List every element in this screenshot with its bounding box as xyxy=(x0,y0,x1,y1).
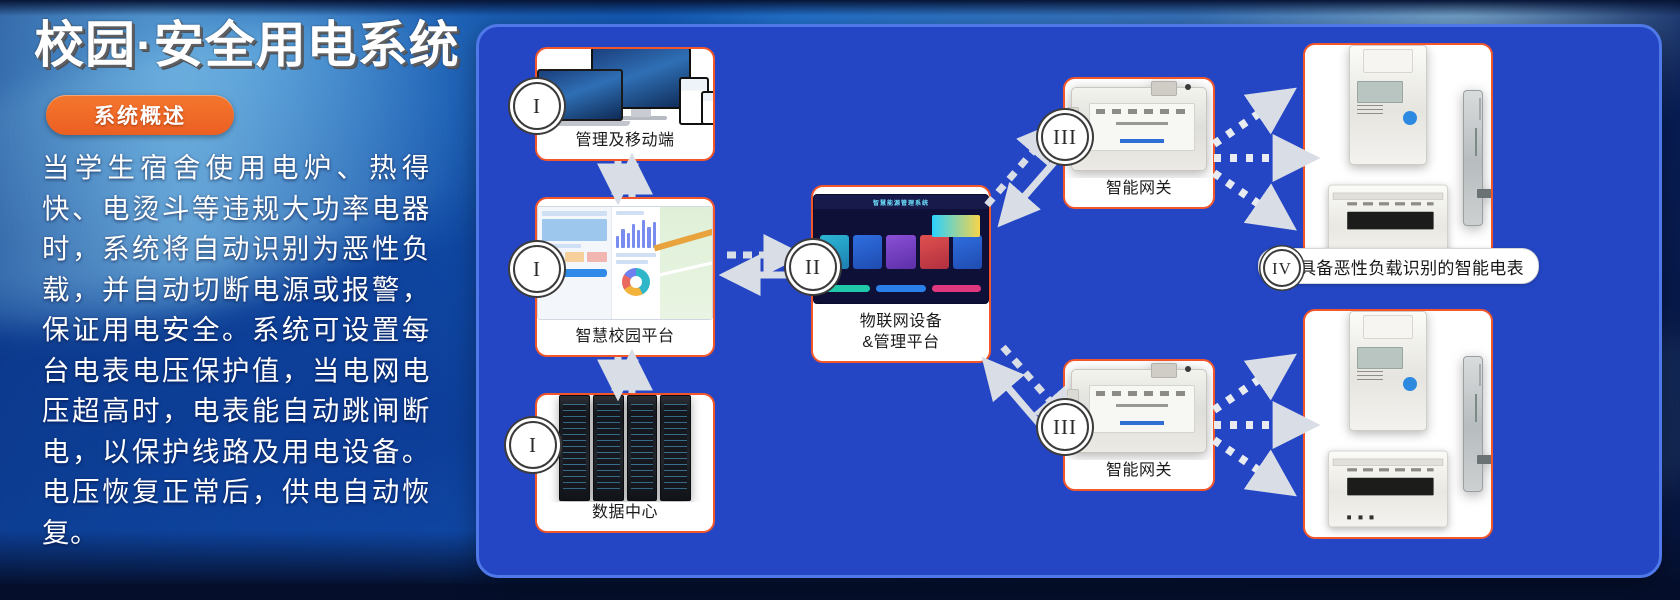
node-smart-campus-label: 智慧校园平台 xyxy=(537,326,713,355)
server-rack-icon xyxy=(537,395,713,502)
meter-group-label-bar[interactable]: IV 具备恶性负载识别的智能电表 xyxy=(1258,248,1539,284)
node-iot-platform[interactable]: 智慧能源管理系统 物 xyxy=(811,185,991,363)
page-title: 校园·安全用电系统 xyxy=(34,14,464,76)
badge-iot-platform: II xyxy=(789,243,837,291)
meter-stack-bottom-left xyxy=(1313,311,1463,537)
node-data-center-label: 数据中心 xyxy=(537,502,713,531)
node-admin-mobile[interactable]: 管理及移动端 xyxy=(535,47,715,161)
node-iot-platform-label: 物联网设备 &管理平台 xyxy=(813,311,989,361)
badge-meter-group: IV xyxy=(1263,249,1301,287)
screenshot-root: 校园·安全用电系统 系统概述 当学生宿舍使用电炉、热得快、电烫斗等违规大功率电器… xyxy=(0,0,1680,600)
smart-meter-three-phase-icon xyxy=(1463,356,1483,492)
connector-gateway-bottom-meters xyxy=(1214,359,1311,491)
connector-admin-campus xyxy=(618,161,632,197)
overview-paragraph: 当学生宿舍使用电炉、热得快、电烫斗等违规大功率电器时，系统将自动识别为恶性负载，… xyxy=(42,148,430,553)
smart-meter-din-rail-icon xyxy=(1328,451,1448,528)
badge-data-center: I xyxy=(509,421,557,469)
badge-gateway-top-text: III xyxy=(1053,127,1077,148)
dashboard-map-icon xyxy=(537,199,713,326)
badge-iot-platform-text: II xyxy=(805,257,821,278)
badge-gateway-top: III xyxy=(1041,113,1089,161)
smart-meter-single-phase-icon xyxy=(1349,45,1427,165)
connector-campus-iot xyxy=(727,255,797,275)
badge-admin-mobile-text: I xyxy=(533,96,541,117)
architecture-diagram-panel: 管理及移动端 xyxy=(476,24,1662,578)
node-iot-platform-label-line2: &管理平台 xyxy=(813,332,989,353)
smart-meter-single-phase-icon xyxy=(1349,311,1427,431)
meter-stack-top-left xyxy=(1313,45,1463,271)
meter-group-label: 具备恶性负载识别的智能电表 xyxy=(1299,254,1524,279)
section-badge: 系统概述 xyxy=(46,95,234,135)
connector-gateway-top-meters xyxy=(1214,93,1311,225)
node-data-center[interactable]: 数据中心 xyxy=(535,393,715,533)
badge-data-center-text: I xyxy=(529,435,537,456)
node-iot-platform-label-line1: 物联网设备 xyxy=(813,311,989,332)
node-admin-mobile-label: 管理及移动端 xyxy=(537,130,713,159)
meter-panel-top[interactable] xyxy=(1303,43,1493,273)
badge-smart-campus: I xyxy=(513,245,561,293)
intro-column: 校园·安全用电系统 系统概述 当学生宿舍使用电炉、热得快、电烫斗等违规大功率电器… xyxy=(0,0,470,600)
section-badge-label: 系统概述 xyxy=(94,100,186,130)
badge-smart-campus-text: I xyxy=(533,259,541,280)
badge-gateway-bottom: III xyxy=(1041,403,1089,451)
node-gateway-top-label: 智能网关 xyxy=(1065,178,1213,207)
iot-dashboard-icon: 智慧能源管理系统 xyxy=(813,187,989,311)
badge-admin-mobile: I xyxy=(513,82,561,130)
connector-campus-datacenter xyxy=(618,357,632,393)
gateway-device-icon xyxy=(1065,361,1213,460)
node-smart-campus[interactable]: 智慧校园平台 xyxy=(535,197,715,357)
badge-meter-group-text: IV xyxy=(1272,260,1292,277)
devices-icon xyxy=(537,49,713,130)
node-gateway-bottom-label: 智能网关 xyxy=(1065,460,1213,489)
meter-panel-bottom[interactable] xyxy=(1303,309,1493,539)
badge-gateway-bottom-text: III xyxy=(1053,417,1077,438)
smart-meter-three-phase-icon xyxy=(1463,90,1483,226)
